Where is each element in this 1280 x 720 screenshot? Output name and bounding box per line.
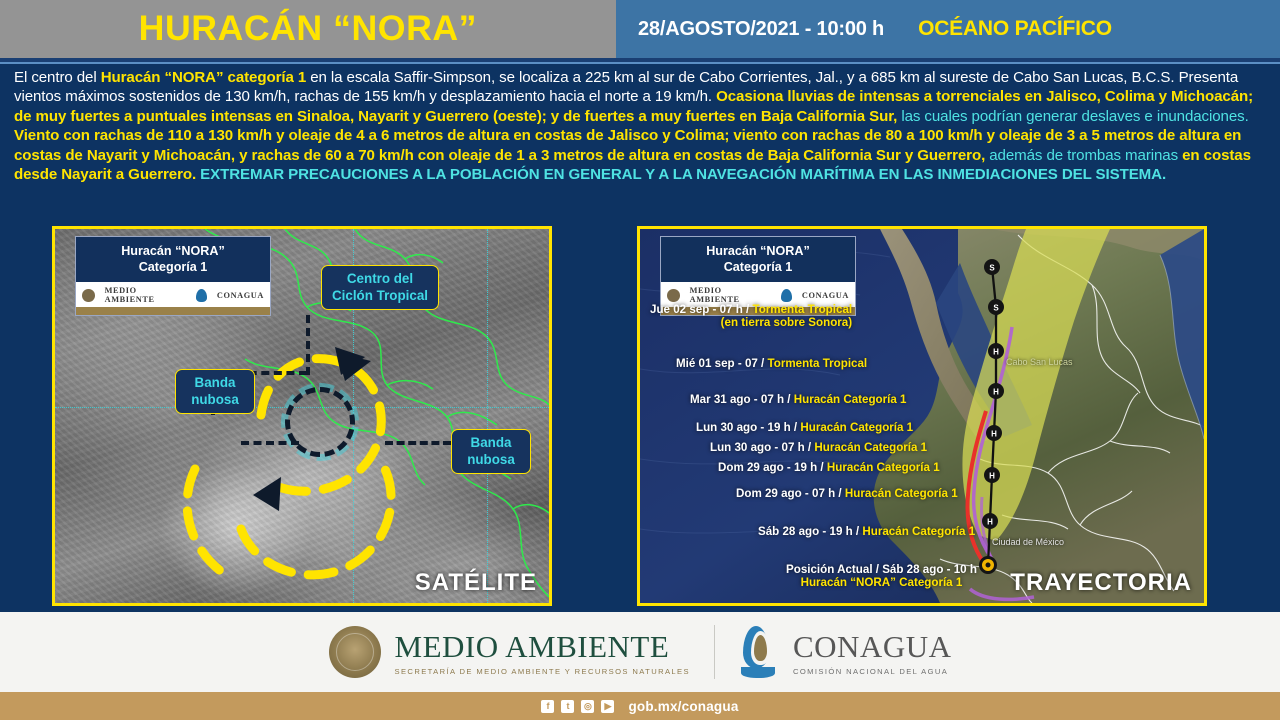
svg-text:H: H [993,348,999,357]
header-left-block: HURACÁN “NORA” [0,0,616,58]
forecast-time-7: Sáb 28 ago - 19 h / [758,525,862,538]
satellite-logo-box: Huracán “NORA” Categoría 1 MEDIO AMBIENT… [75,236,271,316]
forecast-label-3: Lun 30 ago - 19 h / Huracán Categoría 1 [696,421,913,434]
forecast-time-current: Posición Actual / Sáb 28 ago - 10 h [786,563,977,576]
callout-banda-nubosa-1: Banda nubosa [175,369,255,414]
forecast-time-1: Mié 01 sep - 07 / [676,357,768,370]
footer-logos: MEDIO AMBIENTE SECRETARÍA DE MEDIO AMBIE… [0,612,1280,692]
forecast-label-current: Posición Actual / Sáb 28 ago - 10 h Hura… [786,563,977,589]
svg-text:H: H [991,430,997,439]
instagram-icon[interactable]: ◎ [581,700,594,713]
forecast-cat-2: Huracán Categoría 1 [794,393,907,406]
trajectory-logo-line2: Categoría 1 [665,259,851,275]
svg-text:H: H [989,472,995,481]
callout-banda1-line1: Banda [185,375,245,392]
forecast-cat-7: Huracán Categoría 1 [862,525,975,538]
forecast-label-5: Dom 29 ago - 19 h / Huracán Categoría 1 [718,461,940,474]
callout-banda1-line2: nubosa [185,392,245,409]
callout-centro-ciclon: Centro del Ciclón Tropical [321,265,439,310]
cyclone-center-ring [285,387,355,457]
bulletin-text: El centro del Huracán “NORA” categoría 1… [14,68,1266,184]
forecast-label-1: Mié 01 sep - 07 / Tormenta Tropical [676,357,867,370]
mexico-coat-of-arms-icon [329,626,381,678]
forecast-cat-4: Huracán Categoría 1 [814,441,927,454]
callout-banda-nubosa-2: Banda nubosa [451,429,531,474]
forecast-cat-6: Huracán Categoría 1 [845,487,958,500]
conagua-label: CONAGUA [217,291,264,300]
page-title: HURACÁN “NORA” [139,9,477,49]
conagua-subtitle: COMISIÓN NACIONAL DEL AGUA [793,667,952,676]
bulletin-seg-9: EXTREMAR PRECAUCIONES A LA POBLACIÓN EN … [196,166,1166,183]
medio-ambiente-subtitle: SECRETARÍA DE MEDIO AMBIENTE Y RECURSOS … [395,667,690,676]
header-datetime: 28/AGOSTO/2021 - 10:00 h [638,18,884,41]
header-divider-accent [0,62,1280,64]
leader-line-centro-v [306,315,310,375]
forecast-cat-5: Huracán Categoría 1 [827,461,940,474]
svg-text:H: H [993,388,999,397]
city-label-cabo: Cabo San Lucas [1006,357,1073,367]
gob-url[interactable]: gob.mx/conagua [628,699,738,714]
callout-centro-line2: Ciclón Tropical [331,288,429,305]
forecast-label-7: Sáb 28 ago - 19 h / Huracán Categoría 1 [758,525,975,538]
water-drop-icon [196,289,207,302]
footer-social-bar: f t ◎ ▶ gob.mx/conagua [0,692,1280,720]
callout-banda2-line2: nubosa [461,452,521,469]
youtube-icon[interactable]: ▶ [601,700,614,713]
bulletin-seg-1: El centro del [14,69,101,86]
forecast-time-0: Jue 02 sep - 07 h / [650,303,752,316]
callout-centro-line1: Centro del [331,271,429,288]
satellite-panel[interactable]: Huracán “NORA” Categoría 1 MEDIO AMBIENT… [52,226,552,606]
svg-text:H: H [987,518,993,527]
medio-ambiente-title: MEDIO AMBIENTE [395,629,690,665]
svg-text:S: S [989,264,995,273]
satellite-logo-brands: MEDIO AMBIENTE CONAGUA [76,282,270,307]
mexico-seal-icon [667,289,680,302]
bulletin-seg-2: Huracán “NORA” categoría 1 [101,69,306,86]
forecast-cat-0: Tormenta Tropical [752,303,852,316]
conagua-text: CONAGUA COMISIÓN NACIONAL DEL AGUA [793,629,952,676]
city-label-cdmx: Ciudad de México [992,537,1064,547]
forecast-label-2: Mar 31 ago - 07 h / Huracán Categoría 1 [690,393,907,406]
header-ocean-basin: OCÉANO PACÍFICO [918,17,1112,41]
forecast-time-4: Lun 30 ago - 07 h / [710,441,814,454]
trajectory-panel[interactable]: S S H H H H H Huracán “NORA” Categoría 1… [637,226,1207,606]
header-right-block: 28/AGOSTO/2021 - 10:00 h OCÉANO PACÍFICO [616,0,1280,58]
leader-line-banda2 [385,441,451,445]
callout-banda2-line1: Banda [461,435,521,452]
satellite-logo-title: Huracán “NORA” Categoría 1 [76,237,270,282]
facebook-icon[interactable]: f [541,700,554,713]
conagua-logo: CONAGUA COMISIÓN NACIONAL DEL AGUA [739,626,952,678]
footer-separator [714,625,715,679]
forecast-time-3: Lun 30 ago - 19 h / [696,421,800,434]
trajectory-logo-title: Huracán “NORA” Categoría 1 [661,237,855,282]
forecast-extra-0: (en tierra sobre Sonora) [650,316,852,329]
water-drop-icon [781,289,792,302]
forecast-time-5: Dom 29 ago - 19 h / [718,461,827,474]
medio-ambiente-text: MEDIO AMBIENTE SECRETARÍA DE MEDIO AMBIE… [395,629,690,676]
conagua-water-icon [739,626,779,678]
satellite-panel-label: SATÉLITE [415,569,537,597]
medio-ambiente-label: MEDIO AMBIENTE [690,286,772,304]
forecast-label-4: Lun 30 ago - 07 h / Huracán Categoría 1 [710,441,927,454]
forecast-label-6: Dom 29 ago - 07 h / Huracán Categoría 1 [736,487,958,500]
forecast-cat-1: Tormenta Tropical [768,357,868,370]
trajectory-logo-line1: Huracán “NORA” [665,243,851,259]
forecast-time-2: Mar 31 ago - 07 h / [690,393,794,406]
conagua-label: CONAGUA [802,291,849,300]
svg-text:S: S [993,304,999,313]
trajectory-panel-label: TRAYECTORIA [1010,569,1192,597]
leader-line-banda1 [241,441,299,445]
mexico-seal-icon [82,289,95,302]
forecast-time-6: Dom 29 ago - 07 h / [736,487,845,500]
bulletin-seg-5: las cuales podrían generar deslaves e in… [897,108,1248,125]
satellite-logo-line1: Huracán “NORA” [80,243,266,259]
twitter-icon[interactable]: t [561,700,574,713]
logo-gold-strip [76,307,270,315]
forecast-cat-current: Huracán “NORA” Categoría 1 [786,576,977,589]
medio-ambiente-logo: MEDIO AMBIENTE SECRETARÍA DE MEDIO AMBIE… [329,626,690,678]
header-bar: HURACÁN “NORA” 28/AGOSTO/2021 - 10:00 h … [0,0,1280,58]
satellite-logo-line2: Categoría 1 [80,259,266,275]
forecast-cat-3: Huracán Categoría 1 [800,421,913,434]
bulletin-seg-7: además de trombas marinas [985,147,1178,164]
infographic-root: HURACÁN “NORA” 28/AGOSTO/2021 - 10:00 h … [0,0,1280,720]
medio-ambiente-label: MEDIO AMBIENTE [105,286,187,304]
conagua-title: CONAGUA [793,629,952,665]
forecast-label-0: Jue 02 sep - 07 h / Tormenta Tropical (e… [650,303,852,329]
